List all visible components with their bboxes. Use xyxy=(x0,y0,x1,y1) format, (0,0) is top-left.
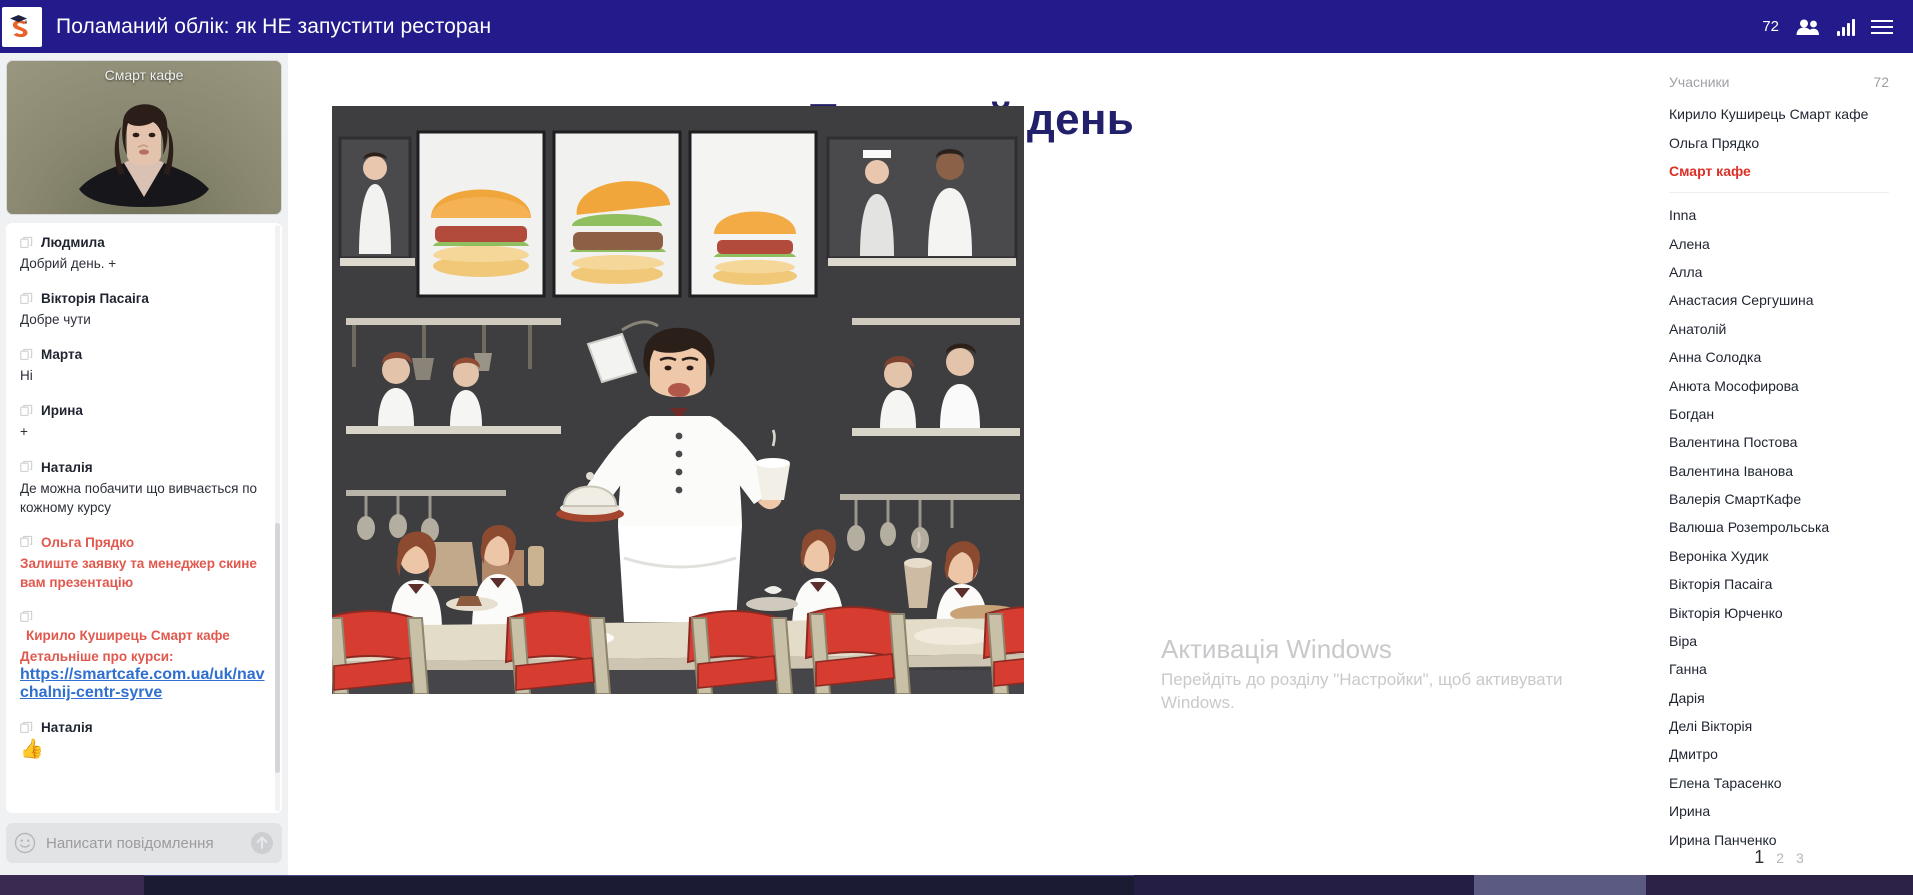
os-taskbar-strip xyxy=(0,875,1913,895)
participant-item[interactable]: Елена Тарасенко xyxy=(1669,769,1889,797)
participant-item[interactable]: Дарія xyxy=(1669,684,1889,712)
send-arrow-icon[interactable] xyxy=(250,831,274,855)
chat-text-emoji: 👍 xyxy=(20,739,268,762)
chat-input-placeholder[interactable]: Написати повідомлення xyxy=(46,835,240,852)
graduation-cap-s-logo-icon xyxy=(7,12,37,42)
participant-item[interactable]: Анюта Мософирова xyxy=(1669,371,1889,399)
participant-item[interactable]: Алена xyxy=(1669,230,1889,258)
chat-author: Марта xyxy=(41,347,82,362)
chat-author: Наталія xyxy=(41,720,93,735)
participant-item[interactable]: Ганна xyxy=(1669,655,1889,683)
chat-scroll-area[interactable]: Людмила Добрий день. + Вікторія Пасаіга … xyxy=(6,223,282,813)
participant-item[interactable]: Ирина xyxy=(1669,797,1889,825)
participant-item[interactable]: Анна Солодка xyxy=(1669,343,1889,371)
header-participant-count: 72 xyxy=(1762,18,1779,35)
participant-item[interactable]: Делі Вікторія xyxy=(1669,712,1889,740)
participant-item[interactable]: Дмитро xyxy=(1669,740,1889,768)
chat-scrollbar-thumb[interactable] xyxy=(275,523,280,773)
participants-pagination: 1 2 3 xyxy=(1653,847,1905,868)
chat-text: + xyxy=(20,422,268,441)
chat-author: Ирина xyxy=(41,403,83,418)
chat-message-highlighted: Ольга Прядко Залиште заявку та менеджер … xyxy=(20,535,268,592)
copy-icon[interactable] xyxy=(20,535,33,549)
copy-icon[interactable] xyxy=(20,721,33,735)
copy-icon[interactable] xyxy=(20,404,33,418)
chat-message-link[interactable]: https://smartcafe.com.ua/uk/navchalnij-c… xyxy=(20,666,268,702)
participant-host[interactable]: Ольга Прядко xyxy=(1669,128,1889,156)
chat-text: Добрий день. + xyxy=(20,254,268,273)
left-chat-column: Смарт кафе Людмила Добрий день. + Віктор… xyxy=(0,53,288,875)
participants-label: Учасники xyxy=(1669,74,1729,90)
participant-item[interactable]: Богдан xyxy=(1669,400,1889,428)
page-button-1[interactable]: 1 xyxy=(1754,847,1764,868)
copy-icon[interactable] xyxy=(20,460,33,474)
participant-host-active[interactable]: Смарт кафе xyxy=(1669,157,1889,185)
participant-item[interactable]: Валентина Іванова xyxy=(1669,457,1889,485)
participant-item[interactable]: Валюша Розempольська xyxy=(1669,513,1889,541)
taskbar-segment xyxy=(1646,875,1913,895)
chat-message: Вікторія Пасаіга Добре чути xyxy=(20,291,268,329)
copy-icon[interactable] xyxy=(20,236,33,250)
hamburger-menu-icon[interactable] xyxy=(1871,20,1893,34)
app-header: Поламаний облік: як НЕ запустити рестора… xyxy=(0,0,1913,53)
speaker-name-label: Смарт кафе xyxy=(7,67,281,83)
taskbar-active-window[interactable] xyxy=(1474,875,1646,895)
slide-illustration xyxy=(332,106,1024,694)
signal-bars-icon[interactable] xyxy=(1837,18,1855,36)
participant-item[interactable]: Inna xyxy=(1669,201,1889,229)
page-button-3[interactable]: 3 xyxy=(1796,850,1804,866)
chat-text: Детальніше про курси: xyxy=(20,647,268,666)
taskbar-segment xyxy=(0,875,144,895)
participant-item[interactable]: Анатолій xyxy=(1669,315,1889,343)
participant-item[interactable]: Валентина Постова xyxy=(1669,428,1889,456)
participants-list[interactable]: Кирило Куширець Смарт кафе Ольга Прядко … xyxy=(1653,100,1905,854)
chat-messages-panel: Людмила Добрий день. + Вікторія Пасаіга … xyxy=(6,223,282,813)
chat-text: Залиште заявку та менеджер скине вам пре… xyxy=(20,554,268,592)
chat-text: Добре чути xyxy=(20,310,268,329)
people-icon[interactable] xyxy=(1795,18,1821,36)
chat-author: Наталія xyxy=(41,460,93,475)
webinar-title: Поламаний облік: як НЕ запустити рестора… xyxy=(56,15,491,39)
chat-text: Ні xyxy=(20,366,268,385)
chat-input-bar[interactable]: Написати повідомлення xyxy=(6,823,282,863)
participants-header: Учасники 72 xyxy=(1653,74,1905,100)
brand-logo[interactable] xyxy=(2,7,42,47)
chat-message: Наталія Де можна побачити що вивчається … xyxy=(20,460,268,517)
copy-icon[interactable] xyxy=(20,610,33,624)
speaker-video-tile[interactable]: Смарт кафе xyxy=(6,60,282,215)
list-divider xyxy=(1669,192,1889,193)
chat-message-highlighted: Кирило Куширець Смарт кафе Детальніше пр… xyxy=(20,610,268,702)
chat-author: Людмила xyxy=(41,235,105,250)
chat-message: Ирина + xyxy=(20,403,268,441)
chat-message: Марта Ні xyxy=(20,347,268,385)
chat-author: Ольга Прядко xyxy=(41,535,134,550)
copy-icon[interactable] xyxy=(20,292,33,306)
participant-item[interactable]: Вероніка Худик xyxy=(1669,542,1889,570)
smiley-icon[interactable] xyxy=(14,832,36,854)
participant-item[interactable]: Анастасия Сергушина xyxy=(1669,286,1889,314)
speaker-avatar-image xyxy=(49,89,239,214)
chat-author: Кирило Куширець Смарт кафе xyxy=(20,628,268,643)
participant-item[interactable]: Валерія СмартКафе xyxy=(1669,485,1889,513)
copy-icon[interactable] xyxy=(20,348,33,362)
header-actions: 72 xyxy=(1762,18,1913,36)
webinar-app: Поламаний облік: як НЕ запустити рестора… xyxy=(0,0,1913,895)
participant-item[interactable]: Віра xyxy=(1669,627,1889,655)
participant-host[interactable]: Кирило Куширець Смарт кафе xyxy=(1669,100,1889,128)
participant-item[interactable]: Вікторія Пасаіга xyxy=(1669,570,1889,598)
chat-text: Де можна побачити що вивчається по кожно… xyxy=(20,479,268,517)
taskbar-segment xyxy=(1134,875,1474,895)
participant-item[interactable]: Вікторія Юрченко xyxy=(1669,598,1889,626)
taskbar-window-segment[interactable] xyxy=(144,875,1134,895)
chat-message: Людмила Добрий день. + xyxy=(20,235,268,273)
participant-item[interactable]: Алла xyxy=(1669,258,1889,286)
participants-count: 72 xyxy=(1873,74,1889,90)
chat-message: Наталія 👍 xyxy=(20,720,268,762)
participants-panel: Учасники 72 Кирило Куширець Смарт кафе О… xyxy=(1653,60,1905,882)
restaurant-kitchen-illustration-image xyxy=(332,106,1024,694)
page-button-2[interactable]: 2 xyxy=(1776,850,1784,866)
chat-author: Вікторія Пасаіга xyxy=(41,291,149,306)
